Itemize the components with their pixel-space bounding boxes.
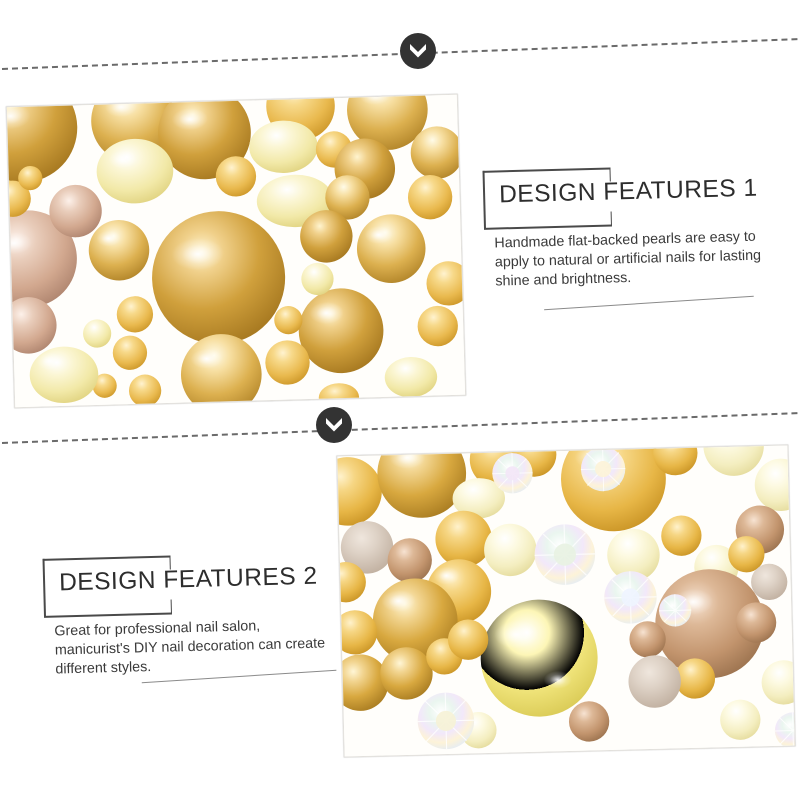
feature-block-2: DESIGN FEATURES 2 Great for professional… <box>38 549 341 680</box>
chevron-down-badge-top[interactable] <box>400 33 436 69</box>
title-frame-wrap: DESIGN FEATURES 1 <box>478 161 779 229</box>
chevron-down-badge-middle[interactable] <box>316 407 352 443</box>
chevron-down-icon <box>409 43 427 59</box>
feature-block-1: DESIGN FEATURES 1 Handmade flat-backed p… <box>478 161 781 292</box>
photo-content <box>336 445 795 758</box>
page-canvas: DESIGN FEATURES 1 Handmade flat-backed p… <box>0 0 800 800</box>
pearls-illustration <box>6 94 466 409</box>
feature-title: DESIGN FEATURES 2 <box>59 563 318 598</box>
title-frame <box>482 167 610 170</box>
product-photo-pearls <box>6 94 466 409</box>
feature-description: Handmade flat-backed pearls are easy to … <box>480 227 767 291</box>
chevron-down-icon <box>325 417 343 433</box>
feature-title: DESIGN FEATURES 1 <box>499 175 758 210</box>
feature-description: Great for professional nail salon, manic… <box>40 615 327 679</box>
pearls-rhinestones-illustration <box>336 445 795 758</box>
title-frame-wrap: DESIGN FEATURES 2 <box>38 549 339 617</box>
title-frame <box>42 555 170 558</box>
photo-content <box>6 94 466 409</box>
product-photo-pearls-rhinestones <box>336 445 795 758</box>
feature-underline <box>544 296 754 311</box>
divider-middle <box>2 412 798 444</box>
